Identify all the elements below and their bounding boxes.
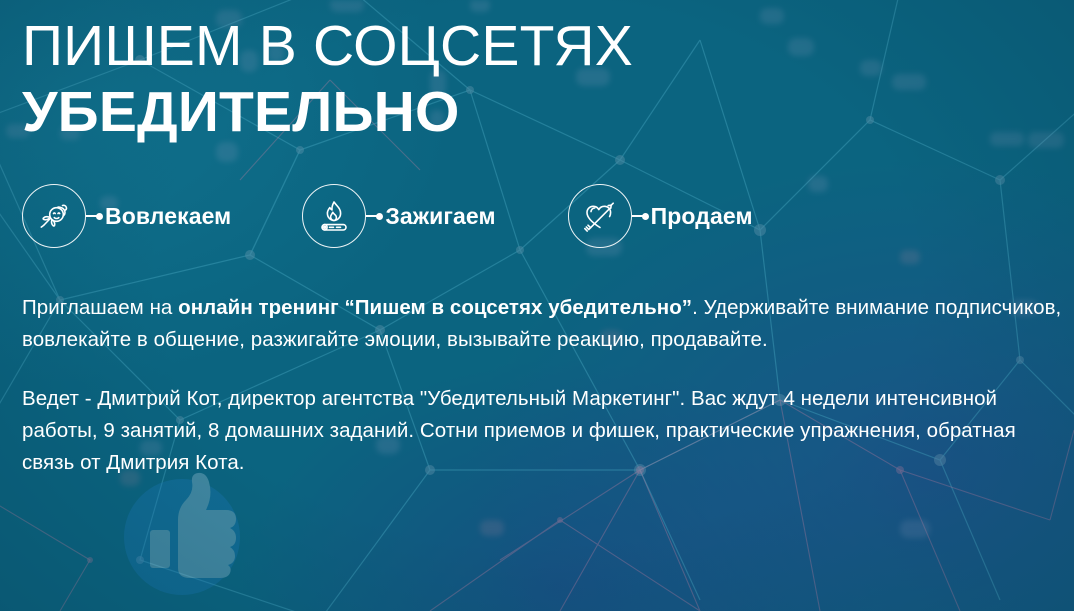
banner-content: ПИШЕМ В СОЦСЕТЯХ УБЕДИТЕЛЬНО — [0, 0, 1074, 611]
paragraph-author: Ведет - Дмитрий Кот, директор агентства … — [22, 383, 1067, 479]
feature-connector-3 — [632, 213, 649, 220]
feature-list: Вовлекаем — [22, 184, 1074, 248]
page-title: ПИШЕМ В СОЦСЕТЯХ УБЕДИТЕЛЬНО — [22, 14, 1074, 144]
heart-arrow-icon — [568, 184, 632, 248]
feature-label-sell: Продаем — [651, 203, 753, 230]
headline-line-1: ПИШЕМ В СОЦСЕТЯХ — [22, 14, 1074, 78]
feature-item-sell: Продаем — [568, 184, 753, 248]
feature-item-ignite: Зажигаем — [302, 184, 495, 248]
feature-item-engage: Вовлекаем — [22, 184, 231, 248]
campfire-icon — [302, 184, 366, 248]
fish-hook-icon — [22, 184, 86, 248]
paragraph-intro: Приглашаем на онлайн тренинг “Пишем в со… — [22, 292, 1067, 356]
paragraph-intro-bold: онлайн тренинг “Пишем в соцсетях убедите… — [178, 296, 692, 319]
feature-connector-1 — [86, 213, 103, 220]
feature-label-ignite: Зажигаем — [385, 203, 495, 230]
feature-connector-2 — [366, 213, 383, 220]
body-copy: Приглашаем на онлайн тренинг “Пишем в со… — [22, 292, 1074, 479]
promo-banner: ПИШЕМ В СОЦСЕТЯХ УБЕДИТЕЛЬНО — [0, 0, 1074, 611]
paragraph-intro-part1: Приглашаем на — [22, 296, 178, 319]
headline-line-2: УБЕДИТЕЛЬНО — [22, 80, 1074, 144]
feature-label-engage: Вовлекаем — [105, 203, 231, 230]
